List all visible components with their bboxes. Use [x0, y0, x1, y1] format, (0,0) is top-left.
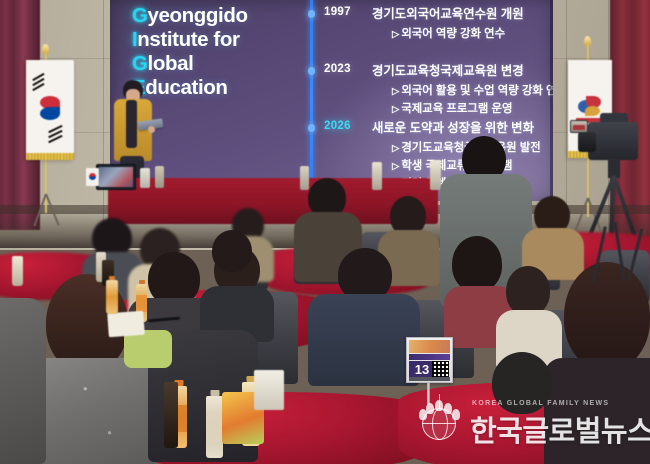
beverage-bottle [12, 256, 23, 286]
camera-lens [578, 132, 596, 152]
timeline-bullet: ▷외국어 역량 강화 연수 [392, 25, 505, 41]
bullet-marker-icon: ▷ [392, 143, 399, 154]
bullet-text: 외국어 역량 강화 연수 [401, 28, 505, 40]
presenter-hand [148, 126, 155, 133]
green-scarf [124, 330, 172, 368]
laptop-screen [99, 167, 133, 187]
person-head [506, 266, 550, 316]
paper-sheet [254, 370, 284, 410]
beverage-bottle [106, 280, 118, 314]
camera-monitor-screen [573, 125, 585, 130]
person-head [564, 262, 650, 370]
timeline-axis [310, 0, 313, 201]
watermark-korean: 한국글로벌뉴스 [470, 408, 650, 450]
timeline-dot [308, 124, 316, 132]
desk-bottle [300, 166, 309, 190]
desk-mini-flag [86, 168, 99, 186]
globe-logo-icon [416, 394, 464, 442]
bottle-cap [210, 390, 219, 396]
title-rest: lobal [148, 52, 194, 75]
bullet-marker-icon: ▷ [392, 161, 399, 172]
timeline-bullet: ▷국제교육 프로그램 운영 [392, 100, 512, 116]
slide-title: Gyeonggido Institute for Global Educatio… [132, 6, 307, 102]
screen-edge [550, 0, 553, 201]
person-head [452, 236, 502, 292]
title-rest: yeonggido [148, 4, 248, 27]
bottle-cap [139, 280, 145, 284]
bullet-marker-icon: ▷ [392, 86, 399, 97]
news-watermark: KOREA GLOBAL FAMILY NEWS 한국글로벌뉴스 [412, 388, 650, 448]
qr-code-icon [432, 361, 449, 378]
title-line: Education [132, 78, 307, 99]
logo-equator [422, 423, 456, 424]
bottle-label [206, 415, 223, 443]
timeline-heading: 경기도교육청국제교육원 변경 [372, 61, 524, 79]
timeline-dot [308, 67, 316, 75]
timeline-year: 1997 [324, 6, 351, 18]
slide-timeline: 1997 경기도외국어교육연수원 개원 ▷외국어 역량 강화 연수 2023 경… [300, 0, 553, 201]
beverage-bottle [206, 396, 223, 458]
title-initial: G [132, 52, 148, 75]
korean-national-flag [14, 44, 76, 224]
title-initial: G [132, 4, 148, 27]
emblem-mark [578, 96, 602, 116]
person-torso [0, 298, 46, 464]
sign-accent-bar [409, 354, 450, 360]
watermark-english: KOREA GLOBAL FAMILY NEWS [472, 400, 609, 407]
bullet-marker-icon: ▷ [392, 104, 399, 115]
flag-cloth [26, 60, 74, 160]
flag-fringe [26, 153, 74, 160]
conference-photo-scene: Gyeonggido Institute for Global Educatio… [0, 0, 650, 464]
timeline-year: 2026 [324, 120, 351, 132]
timeline-heading: 경기도외국어교육연수원 개원 [372, 4, 524, 22]
title-line: Institute for [132, 30, 307, 51]
title-line: Gyeonggido [132, 6, 307, 27]
presenter-top [126, 100, 137, 148]
desk-bottle [372, 162, 382, 190]
title-rest: nstitute for [137, 28, 239, 51]
mini-flag-taeguk [89, 173, 96, 180]
taeguk-blue [40, 107, 60, 120]
timeline-bullet: ▷외국어 활용 및 수업 역량 강화 연수 [392, 82, 553, 98]
table-number-sign: 13 [406, 337, 453, 383]
person-puffer-jacket [308, 294, 420, 386]
timeline-heading: 새로운 도약과 성장을 위한 변화 [372, 118, 534, 136]
timeline-dot [308, 10, 316, 18]
desk-item [155, 166, 164, 188]
desk-bottle [430, 160, 441, 190]
name-card [107, 311, 145, 337]
sign-header-image [409, 340, 450, 353]
bottle-cap [109, 276, 115, 280]
title-line: Global [132, 54, 307, 75]
person-head [212, 230, 252, 272]
bullet-text: 외국어 활용 및 수업 역량 강화 연수 [401, 85, 553, 97]
sign-footer-bar [409, 377, 450, 381]
bullet-text: 국제교육 프로그램 운영 [401, 103, 512, 115]
flag-stand-leg [45, 194, 59, 226]
dark-bottle [164, 382, 178, 448]
bullet-marker-icon: ▷ [392, 29, 399, 40]
timeline-year: 2023 [324, 63, 351, 75]
head-table-laptop [96, 164, 136, 190]
desk-cup [140, 168, 150, 188]
